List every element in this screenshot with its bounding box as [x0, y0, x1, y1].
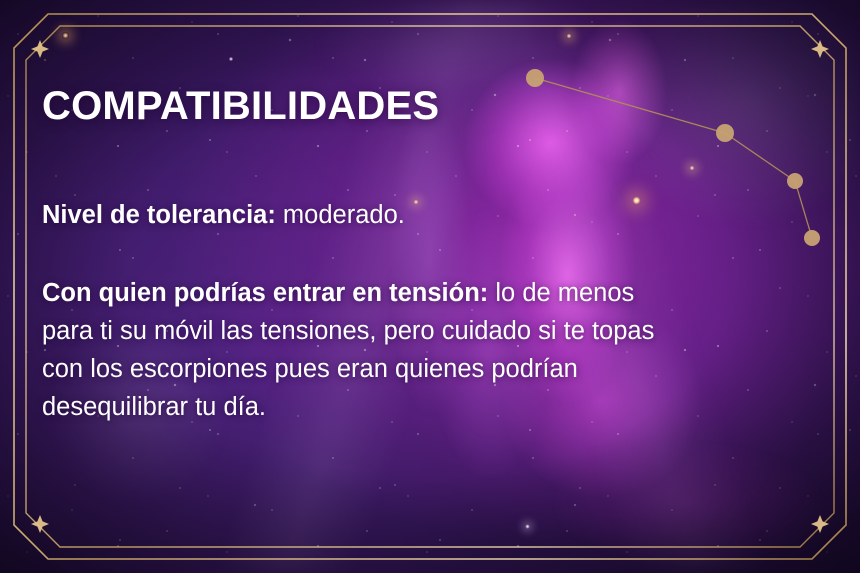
tension-line: para ti su móvil las tensiones, pero cui… [42, 312, 782, 350]
four-point-star-icon [811, 40, 829, 58]
four-point-star-icon [31, 40, 49, 58]
tension-line: Con quien podrías entrar en tensión: lo … [42, 274, 782, 312]
constellation-dot [804, 230, 820, 246]
constellation-dot [787, 173, 803, 189]
tension-label: Con quien podrías entrar en tensión: [42, 279, 488, 307]
constellation-dot [526, 69, 544, 87]
tolerance-label: Nivel de tolerancia: [42, 201, 276, 229]
tolerance-line: Nivel de tolerancia: moderado. [42, 196, 772, 234]
page-title: COMPATIBILIDADES [42, 86, 772, 126]
glow-star [229, 57, 233, 61]
tension-text-1: lo de menos [488, 279, 634, 307]
tension-line: con los escorpiones pues eran quienes po… [42, 350, 782, 388]
text-content: COMPATIBILIDADES Nivel de tolerancia: mo… [42, 86, 772, 426]
paragraph-tension: Con quien podrías entrar en tensión: lo … [42, 274, 782, 426]
tolerance-value: moderado. [276, 201, 405, 229]
glow-star [525, 524, 530, 529]
four-point-star-icon [811, 515, 829, 533]
constellation-line [795, 181, 812, 238]
paragraph-tolerance: Nivel de tolerancia: moderado. [42, 196, 772, 234]
horoscope-compatibility-card: COMPATIBILIDADES Nivel de tolerancia: mo… [0, 0, 860, 573]
four-point-star-icon [31, 515, 49, 533]
glow-star [566, 33, 572, 39]
tension-line: desequilibrar tu día. [42, 388, 782, 426]
glow-star [62, 32, 69, 39]
